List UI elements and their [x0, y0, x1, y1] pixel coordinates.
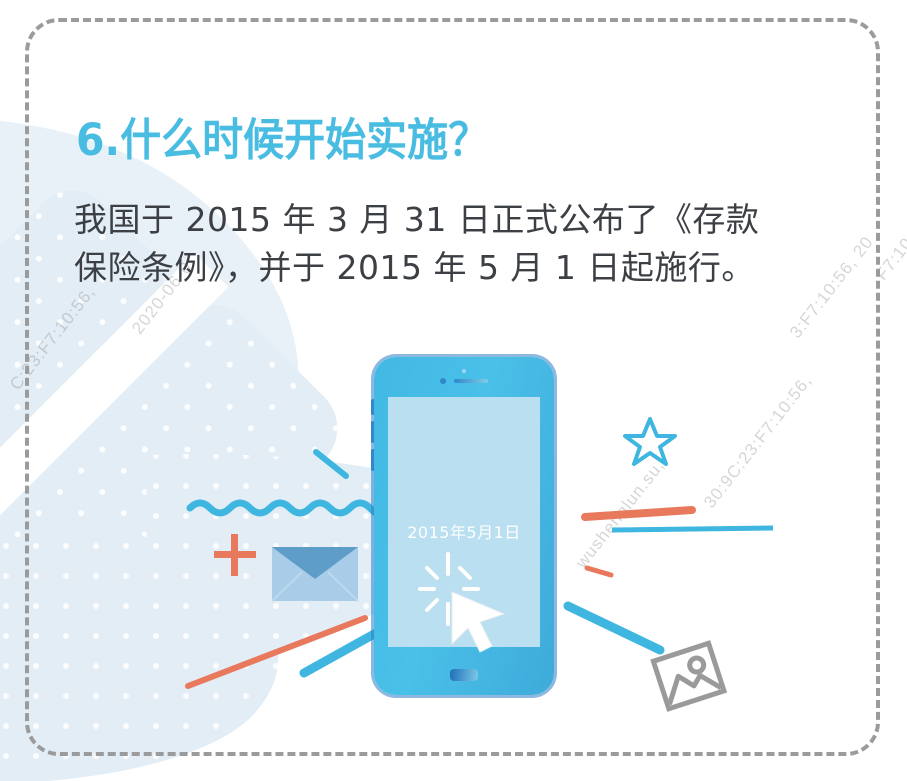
smartphone-illustration: 2015年5月1日: [374, 357, 554, 695]
body-text: 我国于 2015 年 3 月 31 日正式公布了《存款 保险条例》，并于 201…: [74, 196, 844, 292]
phone-sensor-icon: [440, 378, 446, 384]
phone-speaker-icon: [454, 379, 488, 383]
infographic-poster: C:23:F7:10:56, 2020-06-0 wushenglun.su, …: [0, 0, 907, 781]
phone-body: 2015年5月1日: [374, 357, 554, 695]
phone-camera-icon: [462, 369, 466, 373]
phone-screen: 2015年5月1日: [388, 397, 540, 647]
body-text-line-1: 我国于 2015 年 3 月 31 日正式公布了《存款: [74, 196, 844, 244]
phone-screen-date: 2015年5月1日: [388, 519, 540, 543]
body-text-line-2: 保险条例》，并于 2015 年 5 月 1 日起施行。: [74, 244, 844, 292]
phone-home-button: [450, 669, 478, 681]
click-cursor-icon: [418, 552, 510, 660]
page-title: 6.什么时候开始实施？: [76, 103, 489, 168]
